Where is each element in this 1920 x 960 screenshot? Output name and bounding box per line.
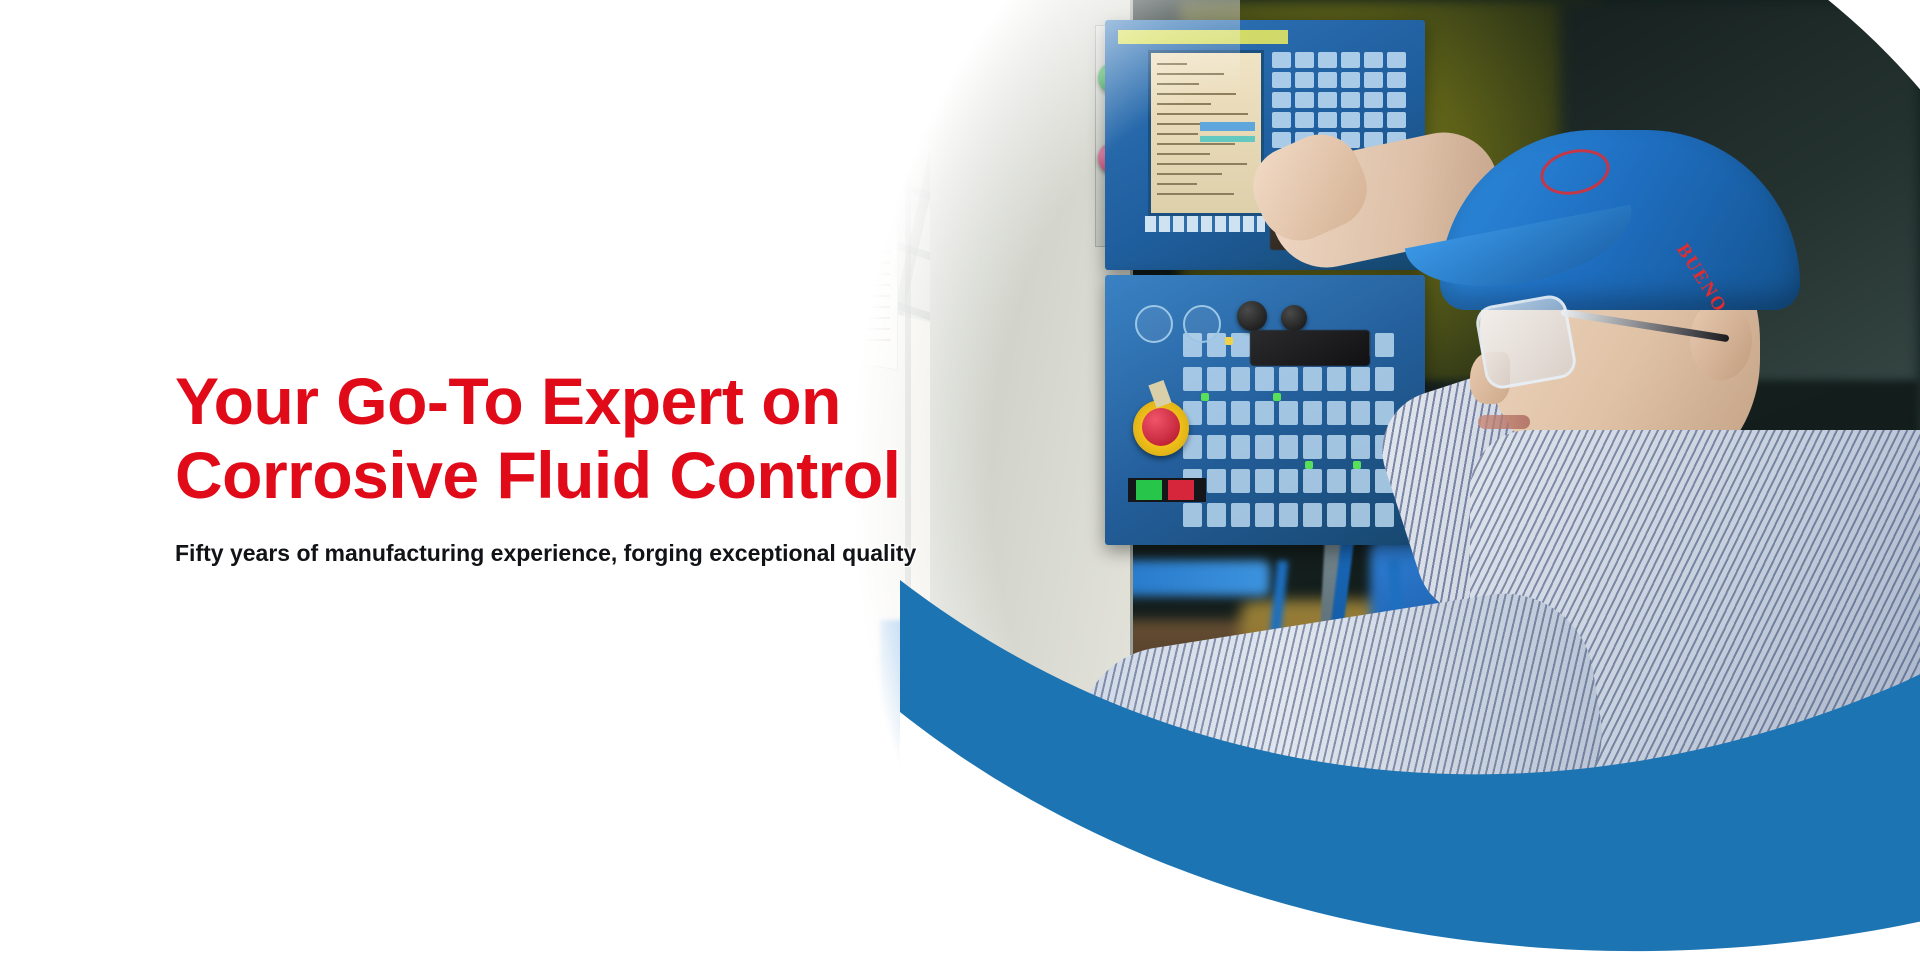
cnc-key (1351, 435, 1370, 459)
cnc-key (1387, 52, 1406, 68)
operator-mouth (1478, 415, 1530, 429)
cnc-key (1327, 503, 1346, 527)
finger-crease (911, 722, 1007, 734)
cnc-key (1364, 112, 1383, 128)
cnc-key (1387, 72, 1406, 88)
cnc-key (1327, 367, 1346, 391)
cnc-brand-strip (1118, 30, 1288, 44)
bottom-white-field (0, 760, 760, 960)
cnc-key (1255, 401, 1274, 425)
cnc-key (1303, 503, 1322, 527)
cnc-lower-fixture (1250, 330, 1370, 366)
cnc-key (1255, 469, 1274, 493)
headline-line-1: Your Go-To Expert on (175, 365, 1235, 439)
cnc-key (1341, 72, 1360, 88)
screen-text-line (1157, 63, 1187, 65)
cnc-key (1279, 401, 1298, 425)
screen-text-line (1157, 143, 1235, 145)
cnc-key (1318, 112, 1337, 128)
cnc-key (1327, 401, 1346, 425)
status-led (1225, 337, 1233, 345)
cnc-screen-highlight (1200, 136, 1255, 142)
cnc-key (1351, 469, 1370, 493)
rotary-dial (1183, 305, 1221, 343)
rotary-dial (1135, 305, 1173, 343)
cnc-key (1364, 72, 1383, 88)
cnc-softkey-row (1145, 216, 1265, 232)
page-title: Your Go-To Expert on Corrosive Fluid Con… (175, 365, 1235, 513)
screen-text-line (1157, 93, 1236, 95)
cnc-key (1364, 52, 1383, 68)
cnc-key (1341, 52, 1360, 68)
cnc-key (1279, 503, 1298, 527)
screen-text-line (1157, 113, 1248, 115)
screen-text-line (1157, 193, 1234, 195)
cnc-key (1318, 52, 1337, 68)
screen-text-line (1157, 163, 1247, 165)
screen-text-line (1157, 73, 1224, 75)
cnc-key (1341, 92, 1360, 108)
cnc-key (1318, 72, 1337, 88)
cnc-key (1351, 503, 1370, 527)
screen-text-line (1157, 103, 1211, 105)
cnc-key (1255, 503, 1274, 527)
cnc-key (1327, 435, 1346, 459)
cnc-key (1318, 92, 1337, 108)
screen-text-line (1157, 83, 1199, 85)
cnc-key (1364, 92, 1383, 108)
cnc-screen-highlight (1200, 122, 1255, 131)
cnc-key (1387, 92, 1406, 108)
selector-knob (1237, 301, 1267, 331)
status-led (1273, 393, 1281, 401)
cnc-key (1295, 92, 1314, 108)
screen-text-line (1157, 183, 1197, 185)
cnc-key (1272, 92, 1291, 108)
headline-line-2: Corrosive Fluid Control (175, 439, 1235, 513)
cnc-key (1272, 112, 1291, 128)
cnc-key (1295, 72, 1314, 88)
cnc-key (1295, 52, 1314, 68)
status-led (1305, 461, 1313, 469)
hero-copy-block: Your Go-To Expert on Corrosive Fluid Con… (175, 365, 1235, 569)
safety-glasses-lens (1473, 293, 1578, 392)
safety-label-header (806, 118, 856, 144)
selector-knob (1281, 305, 1307, 331)
cnc-key (1303, 367, 1322, 391)
cnc-key (1351, 367, 1370, 391)
cnc-key (1303, 401, 1322, 425)
cnc-key (1375, 333, 1394, 357)
cnc-key (1375, 367, 1394, 391)
cnc-key (1231, 333, 1250, 357)
finger-crease (917, 782, 1013, 794)
cnc-key (1327, 469, 1346, 493)
cnc-key (1351, 401, 1370, 425)
screen-text-line (1157, 153, 1210, 155)
cnc-key (1272, 52, 1291, 68)
cnc-key (1303, 435, 1322, 459)
cnc-key (1295, 112, 1314, 128)
finger-crease (915, 762, 1011, 774)
cnc-key (1341, 112, 1360, 128)
cnc-key (1375, 503, 1394, 527)
screen-text-line (1157, 133, 1198, 135)
cnc-key (1272, 72, 1291, 88)
hero-banner: CNC 04 I O (0, 0, 1920, 960)
cnc-key (1255, 435, 1274, 459)
cnc-key (1303, 469, 1322, 493)
cnc-key (1255, 367, 1274, 391)
cnc-key (1279, 469, 1298, 493)
safety-label-text (806, 152, 890, 342)
cnc-key (1279, 435, 1298, 459)
hero-subtitle: Fifty years of manufacturing experience,… (175, 539, 1235, 569)
screen-text-line (1157, 173, 1222, 175)
status-led (1353, 461, 1361, 469)
cnc-key (1279, 367, 1298, 391)
cnc-display-screen (1148, 50, 1264, 216)
finger-crease (913, 742, 1009, 754)
cnc-key (1387, 112, 1406, 128)
